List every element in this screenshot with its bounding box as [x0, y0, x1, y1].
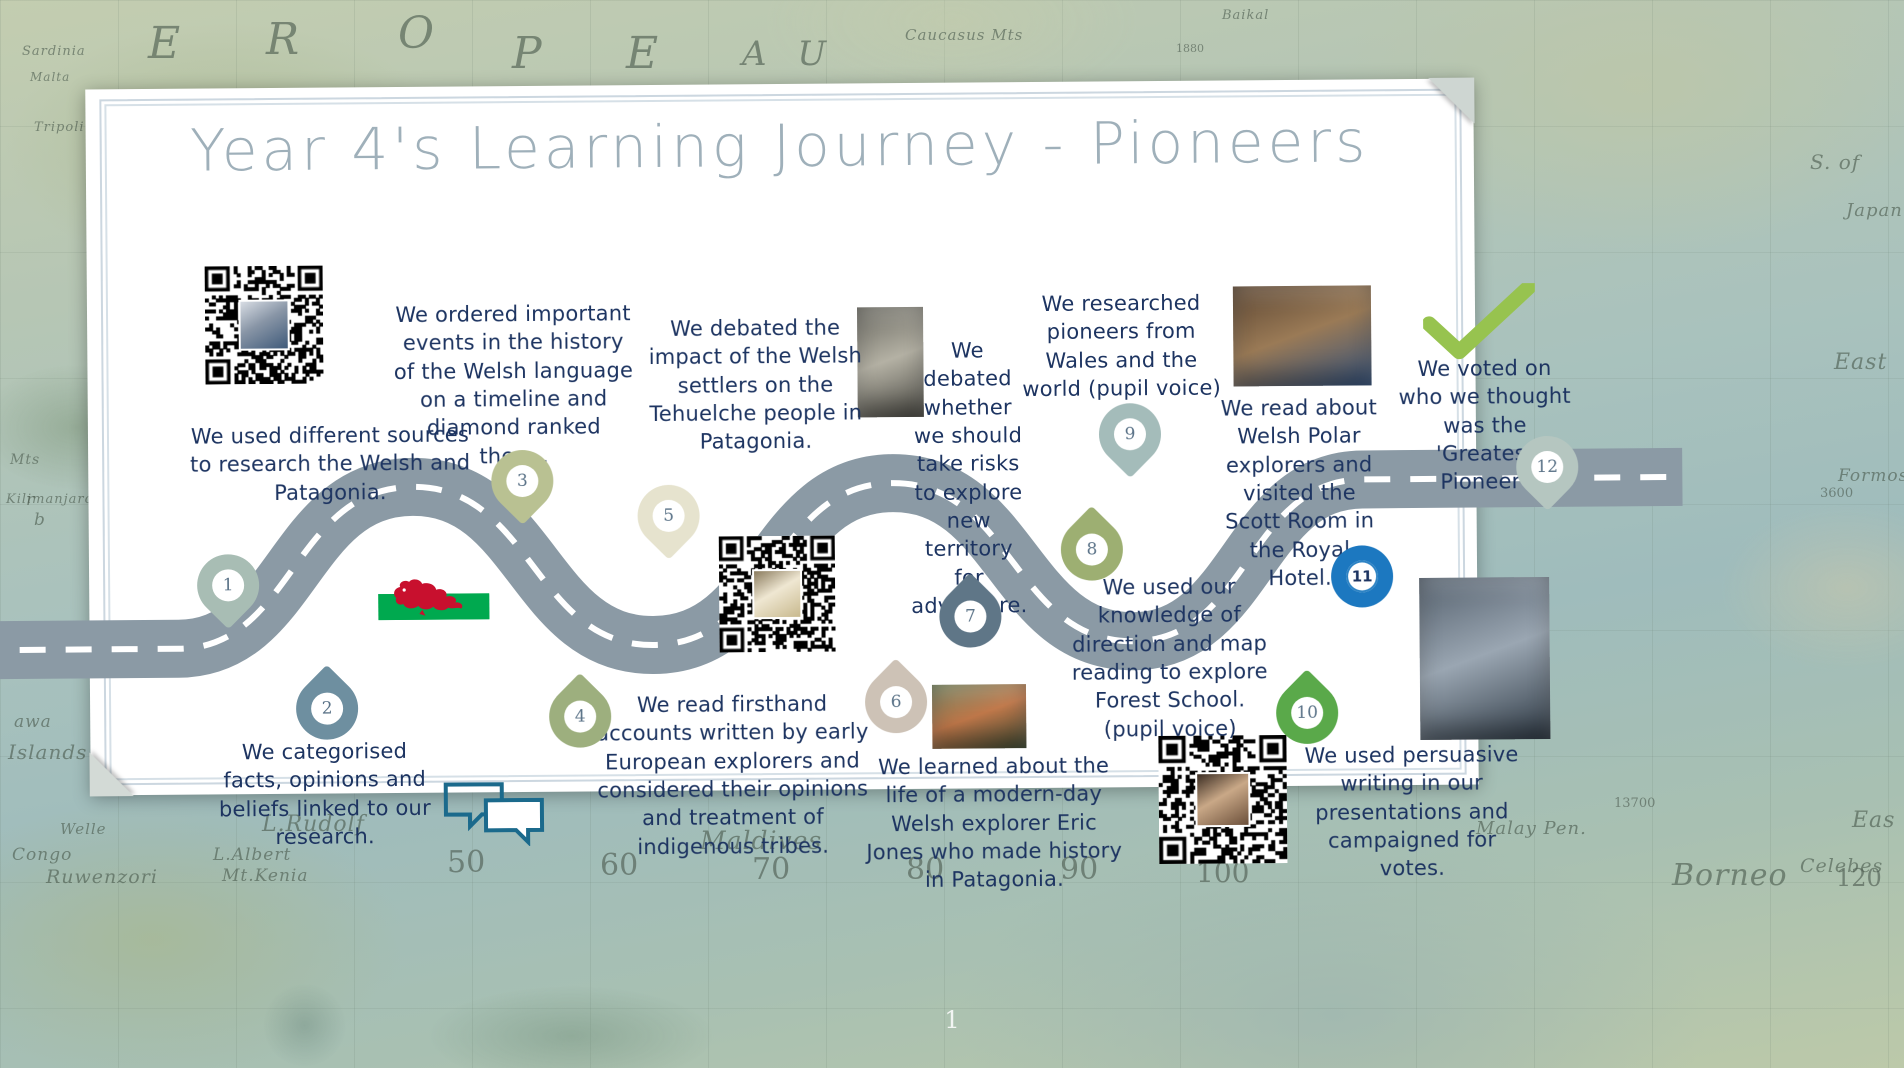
speech-bubbles-icon: [442, 778, 547, 847]
pin-number: 8: [1076, 533, 1108, 565]
qr-inset-children-in-classroom-photo: [238, 299, 289, 350]
map-pin-3[interactable]: 3: [491, 450, 554, 528]
map-pin-5[interactable]: 5: [637, 485, 700, 563]
pin-number: 9: [1114, 418, 1146, 450]
slide-page-number: 1: [0, 1006, 1904, 1034]
qr-code-research[interactable]: [205, 266, 324, 385]
map-pin-10[interactable]: 10: [1276, 682, 1339, 760]
pin-number: 5: [652, 500, 684, 532]
map-pin-12[interactable]: 12: [1516, 436, 1579, 514]
map-pin-9[interactable]: 9: [1099, 403, 1162, 481]
green-tick-icon: [1423, 283, 1536, 362]
pin-number: 6: [880, 686, 912, 718]
map-pin-1[interactable]: 1: [197, 554, 260, 632]
qr-code-explorer-accounts[interactable]: [719, 536, 836, 653]
map-pin-2[interactable]: 2: [296, 677, 359, 755]
photo-hotel-talk: [1233, 285, 1372, 386]
page-title: Year 4's Learning Journey - Pioneers: [85, 107, 1473, 186]
pin-number: 11: [1346, 560, 1378, 592]
pin-number: 10: [1291, 697, 1323, 729]
step-text-10: We used persuasive writing in our presen…: [1302, 740, 1521, 883]
map-pin-7[interactable]: 7: [939, 585, 1002, 663]
step-text-5: We debated the impact of the Welsh settl…: [647, 313, 864, 456]
step-text-6: We learned about the life of a modern-da…: [862, 751, 1125, 895]
pin-number: 3: [506, 465, 538, 497]
qr-inset-pupils-working-photo: [1195, 772, 1250, 827]
pin-number: 4: [564, 700, 596, 732]
folded-corner-bottom-left: [89, 752, 133, 796]
pin-number: 7: [954, 600, 986, 632]
pin-number: 1: [212, 569, 244, 601]
pin-number: 12: [1531, 451, 1563, 483]
pin-number: 2: [311, 692, 343, 724]
learning-journey-poster: Year 4's Learning Journey - Pioneers We …: [85, 79, 1479, 796]
map-pin-6[interactable]: 6: [865, 671, 928, 749]
step-text-8: We used our knowledge of direction and m…: [1071, 572, 1268, 744]
step-text-4: We read firsthand accounts written by ea…: [594, 689, 871, 861]
photo-collage-displays: [1419, 577, 1550, 740]
welsh-dragon-icon: [378, 567, 489, 620]
photo-climber: [932, 684, 1026, 749]
qr-code-persuasive-writing[interactable]: [1158, 735, 1287, 864]
step-text-9: We researched pioneers from Wales and th…: [1015, 289, 1228, 404]
step-text-3: We ordered important events in the histo…: [389, 299, 638, 471]
qr-inset-historic-book-pages: [752, 569, 802, 619]
welsh-flag-icon: [378, 567, 489, 620]
map-pin-11[interactable]: 11: [1331, 545, 1394, 623]
map-pin-8[interactable]: 8: [1061, 518, 1124, 596]
map-pin-4[interactable]: 4: [549, 685, 612, 763]
